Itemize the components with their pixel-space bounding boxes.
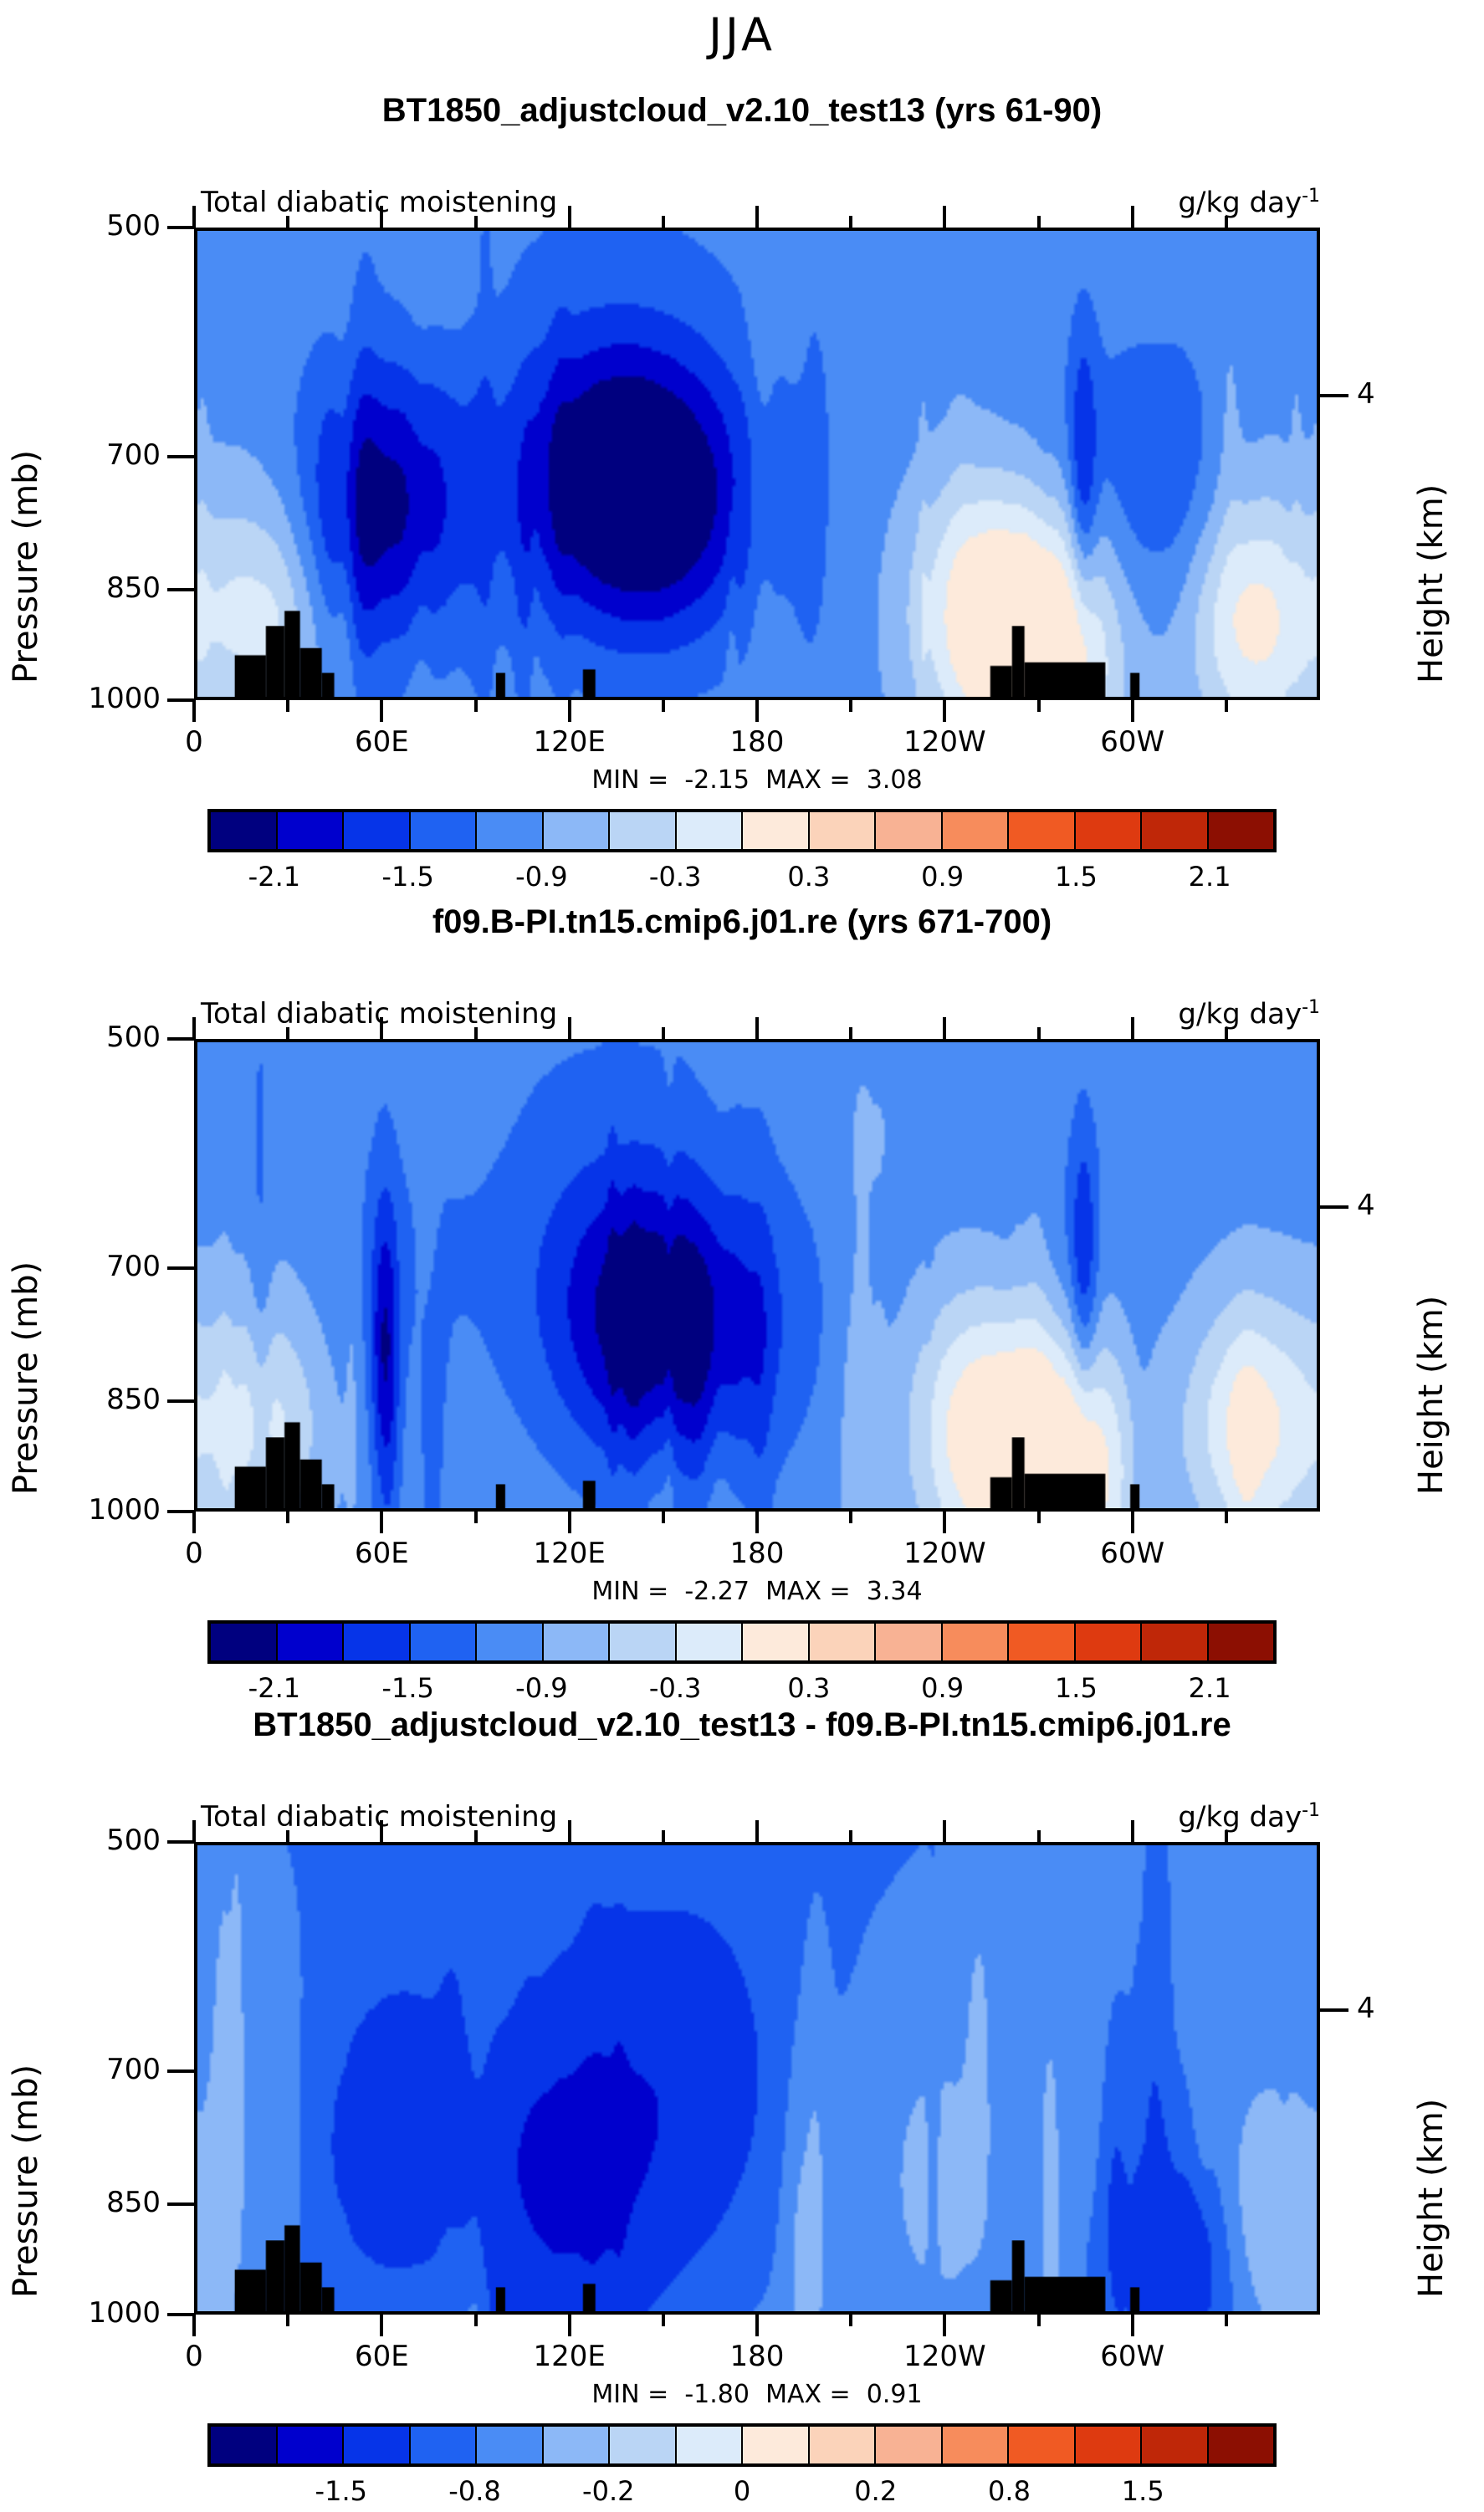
units-label: g/kg day-1 <box>1178 997 1320 1031</box>
x-tick-mark-top <box>755 1820 759 1842</box>
colorbar-tick-label: 1.5 <box>1055 1672 1098 1704</box>
colorbar-tick-label: -0.9 <box>515 861 567 893</box>
max-value: 3.08 <box>867 765 923 795</box>
x-tick-mark-top <box>380 1017 383 1039</box>
contour-field <box>197 231 1317 697</box>
colorbar-cell <box>610 2427 677 2463</box>
x-minor-tick-mark <box>849 2315 852 2326</box>
x-tick-label: 120E <box>494 1537 645 1570</box>
min-label: MIN = <box>591 765 668 795</box>
colorbar-cell <box>943 1624 1010 1660</box>
colorbar-cell <box>810 2427 877 2463</box>
x-minor-tick-mark <box>1225 1830 1228 1842</box>
min-label: MIN = <box>591 1577 668 1606</box>
y-tick-mark <box>167 1840 194 1844</box>
colorbar-tick-label: 0.9 <box>921 1672 964 1704</box>
colorbar-labels: -2.1-1.5-0.9-0.30.30.91.52.1 <box>207 861 1277 898</box>
y-tick-label: 500 <box>60 1021 161 1054</box>
x-minor-tick-mark <box>474 1830 478 1842</box>
colorbar-tick-label: 0.9 <box>921 861 964 893</box>
y-tick-label: 1000 <box>60 2296 161 2330</box>
right-y-tick-mark <box>1320 1205 1348 1209</box>
colorbar-tick-label: -0.3 <box>649 1672 701 1704</box>
x-tick-mark <box>943 1512 946 1533</box>
colorbar-tick-label: 0.8 <box>988 2475 1031 2507</box>
x-tick-label: 0 <box>119 2340 269 2373</box>
y-tick-label: 700 <box>60 1250 161 1283</box>
max-label: MAX = <box>765 765 851 795</box>
right-y-axis-label: Height (km) <box>1412 1875 1451 2298</box>
min-label: MIN = <box>591 2380 668 2409</box>
x-minor-tick-mark <box>662 1512 665 1523</box>
units-text: g/kg day <box>1178 997 1302 1031</box>
colorbar-cell <box>610 1624 677 1660</box>
x-minor-tick-mark <box>662 2315 665 2326</box>
colorbar-tick-label: 0.3 <box>787 1672 830 1704</box>
units-label: g/kg day-1 <box>1178 186 1320 219</box>
colorbar-cell <box>743 1624 810 1660</box>
y-tick-mark <box>167 1266 194 1270</box>
colorbar-cell <box>411 2427 478 2463</box>
x-minor-tick-mark <box>849 700 852 712</box>
colorbar-cell <box>211 1624 278 1660</box>
x-minor-tick-mark <box>1037 1512 1041 1523</box>
y-tick-label: 850 <box>60 1383 161 1416</box>
colorbar-tick-label: -2.1 <box>248 1672 300 1704</box>
x-minor-tick-mark <box>1225 2315 1228 2326</box>
x-tick-mark-top <box>755 1017 759 1039</box>
colorbar-cell <box>278 812 345 849</box>
colorbar-cell <box>477 2427 544 2463</box>
colorbar-cell <box>876 2427 943 2463</box>
colorbar-cell <box>943 2427 1010 2463</box>
min-value: -2.15 <box>684 765 750 795</box>
x-tick-label: 0 <box>119 1537 269 1570</box>
y-tick-mark <box>167 2069 194 2073</box>
colorbar-tick-label: 2.1 <box>1189 1672 1231 1704</box>
x-minor-tick-mark <box>474 1512 478 1523</box>
contour-plot-area <box>194 228 1320 700</box>
y-tick-mark <box>167 1037 194 1041</box>
colorbar-cell <box>1209 812 1274 849</box>
colorbar-tick-label: 2.1 <box>1189 861 1231 893</box>
x-tick-mark-top <box>568 1820 571 1842</box>
colorbar <box>207 809 1277 852</box>
colorbar-cell <box>411 812 478 849</box>
x-tick-mark <box>755 1512 759 1533</box>
colorbar <box>207 1620 1277 1664</box>
colorbar-cell <box>477 1624 544 1660</box>
x-minor-tick-mark <box>286 1027 289 1039</box>
units-label: g/kg day-1 <box>1178 1800 1320 1834</box>
x-tick-mark <box>568 1512 571 1533</box>
units-exponent: -1 <box>1302 186 1320 207</box>
x-tick-mark-top <box>568 206 571 228</box>
x-tick-label: 120W <box>869 2340 1020 2373</box>
x-minor-tick-mark <box>286 1512 289 1523</box>
x-minor-tick-mark <box>474 1027 478 1039</box>
x-tick-mark-top <box>943 1017 946 1039</box>
colorbar-cell <box>876 1624 943 1660</box>
x-tick-mark-top <box>755 206 759 228</box>
x-tick-mark <box>192 2315 196 2336</box>
x-tick-mark <box>380 700 383 722</box>
right-y-axis-label: Height (km) <box>1412 261 1451 683</box>
x-tick-label: 120W <box>869 1537 1020 1570</box>
panel-title: BT1850_adjustcloud_v2.10_test13 (yrs 61-… <box>0 92 1484 130</box>
y-tick-label: 1000 <box>60 682 161 715</box>
panel-title: BT1850_adjustcloud_v2.10_test13 - f09.B-… <box>0 1706 1484 1744</box>
y-tick-mark <box>167 226 194 229</box>
panel-title: f09.B-PI.tn15.cmip6.j01.re (yrs 671-700) <box>0 903 1484 941</box>
right-y-tick-label: 4 <box>1357 1992 1399 2025</box>
x-minor-tick-mark <box>474 700 478 712</box>
y-tick-label: 700 <box>60 2053 161 2086</box>
colorbar-cell <box>411 1624 478 1660</box>
colorbar-cell <box>344 812 411 849</box>
x-minor-tick-mark <box>286 1830 289 1842</box>
y-tick-label: 500 <box>60 209 161 243</box>
x-tick-mark <box>1131 1512 1134 1533</box>
colorbar-cell <box>677 1624 744 1660</box>
x-tick-mark <box>943 700 946 722</box>
colorbar-tick-label: -0.8 <box>448 2475 500 2507</box>
x-tick-mark-top <box>1131 1017 1134 1039</box>
x-tick-label: 120W <box>869 725 1020 759</box>
x-tick-label: 120E <box>494 725 645 759</box>
colorbar-cell <box>943 812 1010 849</box>
right-y-tick-mark <box>1320 394 1348 397</box>
colorbar-cell <box>743 812 810 849</box>
x-tick-label: 60E <box>306 1537 457 1570</box>
colorbar-cell <box>743 2427 810 2463</box>
min-value: -1.80 <box>684 2380 750 2409</box>
x-minor-tick-mark <box>1037 216 1041 228</box>
y-tick-mark <box>167 1510 194 1513</box>
colorbar-tick-label: 0.3 <box>787 861 830 893</box>
x-minor-tick-mark <box>662 216 665 228</box>
colorbar-cell <box>677 812 744 849</box>
colorbar-cell <box>211 2427 278 2463</box>
colorbar-cell <box>344 1624 411 1660</box>
x-tick-mark-top <box>380 206 383 228</box>
colorbar-tick-label: -0.3 <box>649 861 701 893</box>
units-exponent: -1 <box>1302 997 1320 1018</box>
colorbar-cell <box>544 2427 611 2463</box>
x-minor-tick-mark <box>1037 1830 1041 1842</box>
min-max-annotation: MIN = -1.80 MAX = 0.91 <box>194 2380 1320 2409</box>
colorbar-cell <box>1142 812 1209 849</box>
colorbar-cell <box>344 2427 411 2463</box>
colorbar-cell <box>1209 1624 1274 1660</box>
x-minor-tick-mark <box>662 700 665 712</box>
x-minor-tick-mark <box>286 2315 289 2326</box>
x-tick-mark <box>1131 700 1134 722</box>
colorbar-cell <box>1142 1624 1209 1660</box>
colorbar-tick-label: -2.1 <box>248 861 300 893</box>
x-minor-tick-mark <box>849 1830 852 1842</box>
x-minor-tick-mark <box>1225 1512 1228 1523</box>
y-tick-label: 850 <box>60 571 161 605</box>
x-minor-tick-mark <box>662 1830 665 1842</box>
x-tick-mark <box>755 700 759 722</box>
colorbar-cell <box>477 812 544 849</box>
y-tick-mark <box>167 588 194 591</box>
colorbar-cell <box>278 2427 345 2463</box>
contour-plot-area <box>194 1842 1320 2315</box>
colorbar-cell <box>1076 2427 1143 2463</box>
y-tick-label: 500 <box>60 1824 161 1857</box>
y-tick-label: 850 <box>60 2186 161 2219</box>
min-max-annotation: MIN = -2.15 MAX = 3.08 <box>194 765 1320 795</box>
max-label: MAX = <box>765 2380 851 2409</box>
x-tick-mark-top <box>1131 206 1134 228</box>
max-label: MAX = <box>765 1577 851 1606</box>
colorbar-cell <box>810 812 877 849</box>
x-minor-tick-mark <box>474 216 478 228</box>
colorbar-tick-label: -1.5 <box>381 861 433 893</box>
colorbar-cell <box>810 1624 877 1660</box>
min-value: -2.27 <box>684 1577 750 1606</box>
y-tick-label: 700 <box>60 438 161 472</box>
x-tick-mark <box>192 700 196 722</box>
right-y-tick-label: 4 <box>1357 1189 1399 1222</box>
colorbar-cell <box>1009 2427 1076 2463</box>
colorbar-cell <box>876 812 943 849</box>
right-y-tick-mark <box>1320 2008 1348 2012</box>
colorbar-labels: -2.1-1.5-0.9-0.30.30.91.52.1 <box>207 1672 1277 1709</box>
x-tick-label: 60W <box>1057 2340 1208 2373</box>
x-tick-label: 60E <box>306 725 457 759</box>
field-name-label: Total diabatic moistening <box>201 186 557 219</box>
colorbar-tick-label: 0.2 <box>854 2475 897 2507</box>
colorbar-cell <box>544 812 611 849</box>
x-tick-mark <box>568 700 571 722</box>
x-minor-tick-mark <box>849 216 852 228</box>
units-text: g/kg day <box>1178 1800 1302 1834</box>
x-tick-mark <box>380 1512 383 1533</box>
colorbar-cell <box>1009 1624 1076 1660</box>
x-tick-mark-top <box>568 1017 571 1039</box>
colorbar-tick-label: -1.5 <box>315 2475 367 2507</box>
colorbar-tick-label: -1.5 <box>381 1672 433 1704</box>
x-tick-label: 60W <box>1057 725 1208 759</box>
right-y-axis-label: Height (km) <box>1412 1072 1451 1495</box>
max-value: 3.34 <box>867 1577 923 1606</box>
field-name-label: Total diabatic moistening <box>201 997 557 1031</box>
season-title: JJA <box>0 8 1484 61</box>
x-tick-mark-top <box>192 1017 196 1039</box>
colorbar-tick-label: 1.5 <box>1122 2475 1164 2507</box>
colorbar-tick-label: 1.5 <box>1055 861 1098 893</box>
x-tick-mark <box>192 1512 196 1533</box>
colorbar-tick-label: 0 <box>734 2475 750 2507</box>
y-tick-label: 1000 <box>60 1493 161 1527</box>
units-exponent: -1 <box>1302 1800 1320 1821</box>
x-minor-tick-mark <box>1037 2315 1041 2326</box>
colorbar-cell <box>1009 812 1076 849</box>
x-tick-label: 180 <box>682 725 832 759</box>
y-axis-label: Pressure (mb) <box>7 1875 45 2298</box>
x-tick-label: 180 <box>682 2340 832 2373</box>
x-tick-mark <box>755 2315 759 2336</box>
x-minor-tick-mark <box>1037 1027 1041 1039</box>
colorbar-cell <box>211 812 278 849</box>
x-minor-tick-mark <box>662 1027 665 1039</box>
x-minor-tick-mark <box>1037 700 1041 712</box>
x-tick-label: 60E <box>306 2340 457 2373</box>
x-tick-mark <box>568 2315 571 2336</box>
x-tick-label: 120E <box>494 2340 645 2373</box>
x-tick-label: 180 <box>682 1537 832 1570</box>
x-tick-mark <box>380 2315 383 2336</box>
x-tick-mark <box>1131 2315 1134 2336</box>
x-tick-mark-top <box>192 1820 196 1842</box>
x-tick-mark-top <box>1131 1820 1134 1842</box>
right-y-tick-label: 4 <box>1357 377 1399 411</box>
contour-field <box>197 1845 1317 2311</box>
x-tick-mark-top <box>943 1820 946 1842</box>
y-tick-mark <box>167 455 194 458</box>
x-tick-mark-top <box>380 1820 383 1842</box>
x-tick-mark <box>943 2315 946 2336</box>
x-tick-label: 60W <box>1057 1537 1208 1570</box>
x-minor-tick-mark <box>286 700 289 712</box>
colorbar-cell <box>1142 2427 1209 2463</box>
y-tick-mark <box>167 698 194 702</box>
colorbar-cell <box>610 812 677 849</box>
colorbar-tick-label: -0.9 <box>515 1672 567 1704</box>
min-max-annotation: MIN = -2.27 MAX = 3.34 <box>194 1577 1320 1606</box>
colorbar <box>207 2423 1277 2467</box>
x-tick-label: 0 <box>119 725 269 759</box>
units-text: g/kg day <box>1178 186 1302 219</box>
contour-plot-area <box>194 1039 1320 1512</box>
colorbar-cell <box>677 2427 744 2463</box>
colorbar-cell <box>1076 812 1143 849</box>
colorbar-labels: -1.5-0.8-0.200.20.81.5 <box>207 2475 1277 2512</box>
colorbar-cell <box>278 1624 345 1660</box>
x-minor-tick-mark <box>1225 216 1228 228</box>
x-minor-tick-mark <box>474 2315 478 2326</box>
max-value: 0.91 <box>867 2380 923 2409</box>
field-name-label: Total diabatic moistening <box>201 1800 557 1834</box>
x-tick-mark-top <box>943 206 946 228</box>
y-tick-mark <box>167 2202 194 2206</box>
contour-field <box>197 1042 1317 1508</box>
colorbar-cell <box>1209 2427 1274 2463</box>
x-minor-tick-mark <box>1225 700 1228 712</box>
x-tick-mark-top <box>192 206 196 228</box>
colorbar-cell <box>544 1624 611 1660</box>
x-minor-tick-mark <box>849 1512 852 1523</box>
x-minor-tick-mark <box>1225 1027 1228 1039</box>
colorbar-cell <box>1076 1624 1143 1660</box>
y-axis-label: Pressure (mb) <box>7 1072 45 1495</box>
y-axis-label: Pressure (mb) <box>7 261 45 683</box>
y-tick-mark <box>167 2313 194 2316</box>
x-minor-tick-mark <box>849 1027 852 1039</box>
colorbar-tick-label: -0.2 <box>582 2475 634 2507</box>
y-tick-mark <box>167 1399 194 1403</box>
x-minor-tick-mark <box>286 216 289 228</box>
